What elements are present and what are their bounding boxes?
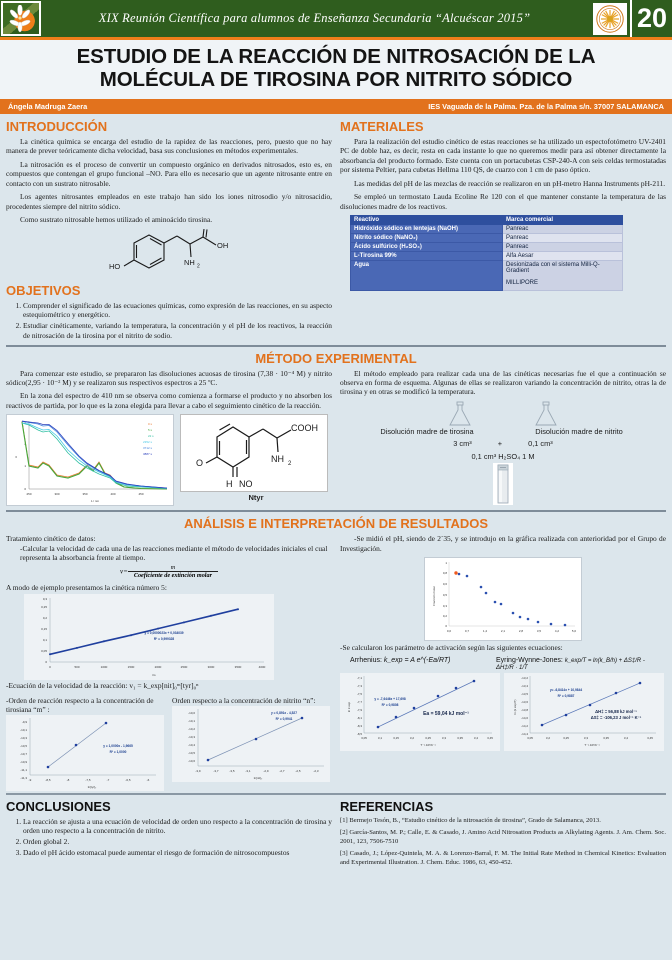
- svg-text:1: 1: [24, 464, 26, 468]
- svg-text:-10,2: -10,2: [188, 727, 195, 731]
- tratamiento-label: Tratamiento cinético de datos:: [6, 534, 332, 543]
- order-m-title: -Orden de reacción respecto a la concent…: [6, 697, 166, 715]
- svg-text:3,4: 3,4: [474, 736, 479, 740]
- conclusion-item: La reacción se ajusta a una ecuación de …: [23, 817, 332, 836]
- svg-text:250: 250: [26, 492, 31, 496]
- metodo-band: MÉTODO EXPERIMENTAL Para comenzar este e…: [6, 345, 666, 507]
- svg-text:-10,9: -10,9: [20, 760, 27, 764]
- cell-reactivo: Ácido sulfúrico (H₂SO₄): [351, 243, 503, 252]
- svg-text:3,3: 3,3: [584, 736, 589, 740]
- intro-paragraph-3: Los agentes nitrosantes empleados en est…: [6, 192, 332, 211]
- analisis-right: -Se midió el pH, siendo de 2´35, y se in…: [340, 534, 666, 790]
- arrhenius-svg: -7,1-7,3-7,5 -7,7-7,9-8,1 -8,3-8,5 3,053…: [340, 673, 500, 751]
- svg-text:-7,7: -7,7: [357, 700, 363, 704]
- svg-text:-14,2: -14,2: [521, 724, 528, 728]
- erlenmeyer-flask-icon: [533, 401, 559, 427]
- section-title-conclusiones: CONCLUSIONES: [6, 799, 332, 814]
- svg-text:0,5: 0,5: [443, 593, 448, 597]
- cell-marca: Panreac: [503, 225, 623, 234]
- arrhenius-r2: R² = 0,9808: [382, 703, 399, 707]
- svg-text:-10,4: -10,4: [188, 743, 195, 747]
- svg-text:0,25: 0,25: [41, 605, 47, 609]
- svg-text:350: 350: [82, 492, 87, 496]
- arrhenius-label: Arrhenius:: [350, 657, 382, 664]
- svg-text:O: O: [196, 458, 203, 468]
- svg-text:3,45: 3,45: [647, 736, 653, 740]
- section-title-introduccion: INTRODUCCIÓN: [6, 119, 332, 134]
- order-m-svg: -9,9-10,1-10,3 -10,5-10,7-10,9 -11,1-11,…: [6, 715, 164, 791]
- svg-text:-3,5: -3,5: [229, 769, 235, 773]
- svg-text:450: 450: [138, 492, 143, 496]
- section-title-analisis: ANÁLISIS E INTERPRETACIÓN DE RESULTADOS: [6, 516, 666, 531]
- volume-right: 0,1 cm³: [528, 439, 553, 448]
- cell-marca: Alfa Aesar: [503, 252, 623, 261]
- column-left-top: INTRODUCCIÓN La cinética química se enca…: [6, 117, 332, 342]
- svg-text:-2,5: -2,5: [295, 769, 301, 773]
- flask-right-label: Disolución madre de nitrito: [514, 427, 644, 436]
- eyring-label: Eyring-Wynne-Jones:: [496, 657, 563, 664]
- svg-text:Fracción molar: Fracción molar: [432, 586, 436, 606]
- table-row: Agua Desionizada con el sistema Milli-Q-…: [351, 261, 623, 291]
- tratamiento-bullet: -Calcular la velocidad de cada una de la…: [6, 544, 332, 563]
- plus-sign: +: [498, 439, 502, 448]
- svg-text:2: 2: [197, 263, 200, 269]
- objetivos-list: Comprender el significado de las ecuacio…: [6, 301, 332, 340]
- svg-text:-14,0: -14,0: [521, 716, 528, 720]
- table-row: Hidróxido sódico en lentejas (NaOH) Panr…: [351, 225, 623, 234]
- ph-highlight-point: [454, 572, 457, 575]
- cell-marca: Desionizada con el sistema Milli-Q-Gradi…: [503, 261, 623, 291]
- seal-glyph: [595, 4, 625, 34]
- conclusion-item: Dado el pH ácido estomacal puede aumenta…: [23, 848, 332, 857]
- svg-text:3,5: 3,5: [537, 629, 542, 633]
- materiales-paragraph-1: Para la realización del estudio cinético…: [340, 137, 666, 175]
- svg-text:0: 0: [24, 487, 26, 491]
- table-row: Nitrito sódico (NaNO₂) Panreac: [351, 234, 623, 243]
- svg-text:-13,2: -13,2: [521, 676, 528, 680]
- svg-text:λ / nm: λ / nm: [91, 499, 100, 503]
- svg-text:-9,9: -9,9: [22, 720, 28, 724]
- svg-text:0,3: 0,3: [43, 597, 48, 601]
- svg-text:0,05: 0,05: [41, 649, 47, 653]
- objetivo-item: Estudiar cinéticamente, variando la temp…: [23, 321, 332, 340]
- dh-result: ΔH‡ = 56,88 kJ mol⁻¹: [595, 709, 637, 714]
- arrhenius-chart: -7,1-7,3-7,5 -7,7-7,9-8,1 -8,3-8,5 3,053…: [340, 673, 500, 751]
- nitrosotirosina-structure: O COOH NH 2 H NO: [180, 414, 328, 492]
- svg-text:0: 0: [445, 624, 447, 628]
- svg-text:-7,5: -7,5: [85, 778, 91, 782]
- formula-denominator: Coeficiente de extinción molar: [128, 572, 218, 579]
- volume-left: 3 cm³: [453, 439, 471, 448]
- section-title-metodo: MÉTODO EXPERIMENTAL: [6, 351, 666, 366]
- svg-text:-2,7: -2,7: [279, 769, 285, 773]
- eyring-svg: -13,2-13,4-13,5 -13,6-13,8-14,0 -14,2-14…: [504, 673, 664, 751]
- cell-marca: Panreac: [503, 234, 623, 243]
- order-m-r2: R² = 1,0000: [110, 750, 127, 754]
- svg-text:0,2: 0,2: [443, 614, 448, 618]
- svg-text:2500: 2500: [181, 665, 188, 669]
- arrhenius-equation: k_exp = A e^(-Ea/RT): [384, 657, 451, 664]
- arrhenius-trend: y = -7,6446x + 17,698: [374, 697, 406, 701]
- section-title-objetivos: OBJETIVOS: [6, 283, 332, 298]
- ea-result: Ea = 59,04 kJ mol⁻¹: [423, 711, 469, 717]
- ds-result: ΔS‡ = -106,23 J mol⁻¹ K⁻¹: [591, 715, 642, 720]
- product-molecule-wrap: O COOH NH 2 H NO Ntyr: [180, 414, 332, 502]
- svg-text:O: O: [202, 229, 208, 230]
- materiales-paragraph-3: Se empleó un termostato Lauda Ecoline Re…: [340, 192, 666, 211]
- svg-text:3712 s: 3712 s: [143, 446, 153, 450]
- cell-reactivo: L-Tirosina 99%: [351, 252, 503, 261]
- eyring-r2: R² = 0,9887: [558, 694, 575, 698]
- svg-text:HO: HO: [109, 262, 120, 271]
- svg-text:3,05: 3,05: [361, 736, 367, 740]
- materiales-paragraph-2: Las medidas del pH de las mezclas de rea…: [340, 179, 666, 188]
- section-title-materiales: MATERIALES: [340, 119, 666, 134]
- ph-profile-svg: 10,80,6 0,50,30,20 0,00,71,4 2,12,83,5 4…: [425, 558, 581, 640]
- svg-text:T⁻¹·10³/K⁻¹: T⁻¹·10³/K⁻¹: [420, 743, 435, 747]
- intro-paragraph-1: La cinética química se encarga del estud…: [6, 137, 332, 156]
- reference-item: [3] Casado, J.; López-Quintela, M. A. & …: [340, 850, 666, 867]
- svg-text:NH: NH: [271, 454, 284, 464]
- kinetic-r2-label: R² = 0,999328: [154, 637, 175, 641]
- svg-text:300: 300: [54, 492, 59, 496]
- metodo-paragraph-1: Para comenzar este estudio, se prepararo…: [6, 369, 332, 388]
- table-row: L-Tirosina 99% Alfa Aesar: [351, 252, 623, 261]
- svg-text:-11,3: -11,3: [20, 776, 27, 780]
- svg-text:0,15: 0,15: [41, 627, 47, 631]
- svg-text:0,3: 0,3: [443, 604, 448, 608]
- metodo-left: Para comenzar este estudio, se prepararo…: [6, 369, 332, 507]
- erlenmeyer-flask-icon: [447, 401, 473, 427]
- order-m-trend: y = 1,0000x - 1,9665: [103, 744, 133, 748]
- svg-text:-10,1: -10,1: [20, 728, 27, 732]
- svg-text:1000: 1000: [101, 665, 108, 669]
- svg-text:-8,5: -8,5: [45, 778, 51, 782]
- metodo-right-paragraph: El método empleado para realizar cada un…: [340, 369, 666, 397]
- cuvette-photo: [340, 463, 666, 505]
- svg-text:4000: 4000: [259, 665, 266, 669]
- poster-number: 20: [630, 0, 672, 37]
- svg-text:3,1: 3,1: [378, 736, 383, 740]
- page-title-line2: MOLÉCULA DE TIROSINA POR NITRITO SÓDICO: [100, 68, 573, 91]
- svg-text:0,0: 0,0: [447, 629, 452, 633]
- svg-text:-11,1: -11,1: [20, 768, 27, 772]
- svg-text:ln[nit]₀: ln[nit]₀: [254, 776, 263, 780]
- svg-text:ln k exp: ln k exp: [347, 701, 351, 712]
- reference-item: [1] Bermejo Tesón, B., “Estudio cinético…: [340, 817, 666, 826]
- svg-text:t/s: t/s: [152, 673, 156, 677]
- svg-text:H: H: [226, 479, 233, 489]
- order-m-block: -Orden de reacción respecto a la concent…: [6, 697, 166, 791]
- conference-title: XIX Reunión Científica para alumnos de E…: [42, 11, 593, 26]
- svg-text:-2,3: -2,3: [313, 769, 319, 773]
- kinetic-5-chart: 00,050,1 0,150,20,250,3 05001000 1500200…: [24, 594, 332, 680]
- velocity-formula: v= m Coeficiente de extinción molar: [6, 565, 332, 579]
- svg-text:400: 400: [110, 492, 115, 496]
- svg-text:1500: 1500: [128, 665, 135, 669]
- author-name: Ángela Madruga Zaera: [8, 102, 87, 111]
- svg-text:-13,5: -13,5: [521, 692, 528, 696]
- svg-text:-3,7: -3,7: [213, 769, 219, 773]
- cuvette-icon: [493, 463, 513, 505]
- arrhenius-equation-block: Arrhenius: k_exp = A e^(-Ea/RT): [340, 657, 490, 671]
- svg-text:3,35: 3,35: [457, 736, 463, 740]
- product-caption: Ntyr: [180, 493, 332, 502]
- volumes-row: 3 cm³ + 0,1 cm³: [340, 439, 666, 448]
- svg-text:2000: 2000: [155, 665, 162, 669]
- referencias-block: REFERENCIAS [1] Bermejo Tesón, B., “Estu…: [340, 797, 666, 872]
- page-title-line1: ESTUDIO DE LA REACCIÓN DE NITROSACIÓN DE…: [77, 45, 596, 68]
- svg-text:2352 s: 2352 s: [143, 440, 153, 444]
- intro-paragraph-2: La nitrosación es el proceso de converti…: [6, 160, 332, 188]
- svg-text:3,05: 3,05: [527, 736, 533, 740]
- svg-text:-10,7: -10,7: [20, 752, 27, 756]
- svg-text:-10,3: -10,3: [20, 736, 27, 740]
- kinetic-trend-label: y = 0,0000023x + 0,034039: [144, 631, 183, 635]
- cell-reactivo: Agua: [351, 261, 503, 291]
- svg-text:-8: -8: [67, 778, 70, 782]
- cell-marca: Panreac: [503, 243, 623, 252]
- svg-text:3,25: 3,25: [563, 736, 569, 740]
- svg-text:OH: OH: [217, 241, 228, 250]
- svg-text:-7,1: -7,1: [357, 676, 363, 680]
- svg-text:-3,9: -3,9: [195, 769, 201, 773]
- svg-text:-6,5: -6,5: [125, 778, 131, 782]
- svg-text:0,7: 0,7: [465, 629, 470, 633]
- conclusion-item: Orden global 2.: [23, 837, 332, 846]
- svg-text:-13,4: -13,4: [521, 684, 528, 688]
- svg-text:-10,6: -10,6: [188, 759, 195, 763]
- acid-line: 0,1 cm³ H₂SO₄ 1 M: [340, 452, 666, 461]
- cell-reactivo: Hidróxido sódico en lentejas (NaOH): [351, 225, 503, 234]
- svg-text:3,2: 3,2: [546, 736, 551, 740]
- svg-text:4,2: 4,2: [555, 629, 560, 633]
- params-label: -Se calcularon los parámetro de activaci…: [340, 643, 666, 652]
- table-header-row: Reactivo Marca comercial: [351, 216, 623, 225]
- intro-paragraph-4: Como sustrato nitrosable hemos utilizado…: [6, 215, 332, 224]
- flower-glyph: [7, 5, 33, 33]
- author-bar: Ángela Madruga Zaera IES Vaguada de la P…: [0, 99, 672, 114]
- svg-text:ln (k exp/T): ln (k exp/T): [513, 699, 517, 714]
- analisis-band: ANÁLISIS E INTERPRETACIÓN DE RESULTADOS …: [6, 510, 666, 790]
- flask-left-label: Disolución madre de tirosina: [362, 427, 492, 436]
- svg-text:3,45: 3,45: [487, 736, 493, 740]
- svg-text:-7,3: -7,3: [357, 684, 363, 688]
- poster-title-block: ESTUDIO DE LA REACCIÓN DE NITROSACIÓN DE…: [0, 40, 672, 99]
- footer-divider: [6, 793, 666, 795]
- svg-text:NH: NH: [184, 258, 195, 267]
- conclusiones-block: CONCLUSIONES La reacción se ajusta a una…: [6, 797, 332, 872]
- svg-text:COOH: COOH: [291, 423, 318, 433]
- order-n-svg: -10,0-10,1-10,2 -10,3-10,4-10,5 -10,6 -3…: [172, 706, 330, 782]
- reagents-table: Reactivo Marca comercial Hidróxido sódic…: [350, 215, 623, 291]
- svg-text:3887 s: 3887 s: [143, 452, 153, 456]
- svg-text:NO: NO: [239, 479, 253, 489]
- uv-spectra-chart: 250300 350400 450 λ / nm 01 23 A: [6, 414, 174, 506]
- svg-text:500: 500: [74, 665, 79, 669]
- col-header-reactivo: Reactivo: [351, 216, 503, 225]
- order-n-trend: y = 0,891x - 4,527: [271, 711, 297, 715]
- col-header-marca: Marca comercial: [503, 216, 623, 225]
- section-title-referencias: REFERENCIAS: [340, 799, 666, 814]
- affiliation: IES Vaguada de la Palma. Pza. de la Palm…: [428, 102, 664, 111]
- svg-text:3,4: 3,4: [624, 736, 629, 740]
- svg-text:3,3: 3,3: [442, 736, 447, 740]
- svg-text:-6: -6: [147, 778, 150, 782]
- svg-text:-10,5: -10,5: [20, 744, 27, 748]
- svg-text:-7,9: -7,9: [357, 708, 363, 712]
- tirosina-skeletal-glyph: HO O OH NH 2: [94, 229, 244, 281]
- ph-profile-chart: 10,80,6 0,50,30,20 0,00,71,4 2,12,83,5 4…: [424, 557, 582, 641]
- svg-text:-10,3: -10,3: [188, 735, 195, 739]
- svg-text:22 s: 22 s: [148, 434, 154, 438]
- table-row: Ácido sulfúrico (H₂SO₄) Panreac: [351, 243, 623, 252]
- svg-text:5,0: 5,0: [572, 629, 577, 633]
- svg-text:3500: 3500: [235, 665, 242, 669]
- svg-text:3,15: 3,15: [393, 736, 399, 740]
- svg-text:0,2: 0,2: [43, 616, 48, 620]
- svg-text:-10,0: -10,0: [188, 711, 195, 715]
- svg-text:2,8: 2,8: [519, 629, 524, 633]
- analisis-left: Tratamiento cinético de datos: -Calcular…: [6, 534, 332, 790]
- svg-text:0,6: 0,6: [443, 582, 448, 586]
- svg-text:-8,3: -8,3: [357, 724, 363, 728]
- svg-text:0,1: 0,1: [43, 638, 48, 642]
- svg-text:3,2: 3,2: [410, 736, 415, 740]
- order-n-block: Orden respecto a la concentración de nit…: [172, 697, 332, 791]
- svg-text:-8,1: -8,1: [357, 716, 363, 720]
- top-banner: XIX Reunión Científica para alumnos de E…: [0, 0, 672, 37]
- conclusiones-list: La reacción se ajusta a una ecuación de …: [6, 817, 332, 858]
- svg-text:-3,1: -3,1: [245, 769, 251, 773]
- alcuescar-flower-logo: [0, 0, 42, 37]
- svg-text:-13,6: -13,6: [521, 700, 528, 704]
- tirosina-structure: HO O OH NH 2: [6, 229, 332, 281]
- svg-text:-7: -7: [107, 778, 110, 782]
- ntyr-skeletal-glyph: O COOH NH 2 H NO: [183, 417, 327, 491]
- university-seal-logo: [593, 3, 627, 35]
- svg-text:1: 1: [445, 561, 447, 565]
- order-n-title: Orden respecto a la concentración de nit…: [172, 697, 332, 706]
- svg-text:3000: 3000: [208, 665, 215, 669]
- svg-text:-9: -9: [29, 778, 32, 782]
- svg-text:ln[tyr]₀: ln[tyr]₀: [88, 785, 97, 789]
- eyring-equation-block: Eyring-Wynne-Jones: k_exp/T = ln(k_B/h) …: [496, 657, 664, 671]
- svg-text:-10,5: -10,5: [188, 751, 195, 755]
- svg-text:5 s: 5 s: [148, 428, 153, 432]
- ejemplo-label: A modo de ejemplo presentamos la cinétic…: [6, 583, 332, 592]
- column-right-top: MATERIALES Para la realización del estud…: [340, 117, 666, 342]
- svg-text:-2,9: -2,9: [263, 769, 269, 773]
- svg-text:2: 2: [288, 461, 292, 467]
- svg-text:0,8: 0,8: [443, 571, 448, 575]
- rate-equation: -Ecuación de la velocidad de la reacción…: [6, 681, 332, 690]
- metodo-paragraph-2: En la zona del espectro de 410 nm se obs…: [6, 391, 332, 410]
- svg-text:T⁻¹·10³/K⁻¹: T⁻¹·10³/K⁻¹: [584, 743, 599, 747]
- reference-item: [2] García-Santos, M. P.; Calle, E. & Ca…: [340, 829, 666, 846]
- formula-numerator: m: [128, 565, 218, 572]
- footer-columns: CONCLUSIONES La reacción se ajusta a una…: [0, 797, 672, 872]
- svg-text:1,4: 1,4: [483, 629, 488, 633]
- svg-text:-7,5: -7,5: [357, 692, 363, 696]
- svg-text:3,35: 3,35: [603, 736, 609, 740]
- flask-diagram-row: [340, 401, 666, 427]
- top-columns: INTRODUCCIÓN La cinética química se enca…: [0, 114, 672, 342]
- svg-text:0 s: 0 s: [148, 422, 153, 426]
- svg-text:-13,8: -13,8: [521, 708, 528, 712]
- svg-text:3,25: 3,25: [425, 736, 431, 740]
- kinetic-5-svg: 00,050,1 0,150,20,250,3 05001000 1500200…: [24, 594, 274, 680]
- eyring-trend: y= -6,8414x + 10,9844: [550, 688, 582, 692]
- objetivo-item: Comprender el significado de las ecuacio…: [23, 301, 332, 320]
- order-n-r2: R² = 0,9941: [276, 717, 293, 721]
- ph-paragraph: -Se midió el pH, siendo de 2´35, y se in…: [340, 534, 666, 553]
- svg-text:-10,1: -10,1: [188, 719, 195, 723]
- svg-text:2,1: 2,1: [501, 629, 506, 633]
- uv-spectra-svg: 250300 350400 450 λ / nm 01 23 A: [7, 415, 173, 505]
- formula-v: v=: [120, 567, 128, 575]
- metodo-right: El método empleado para realizar cada un…: [340, 369, 666, 507]
- svg-text:A: A: [14, 456, 18, 458]
- eyring-chart: -13,2-13,4-13,5 -13,6-13,8-14,0 -14,2-14…: [504, 673, 664, 751]
- cell-reactivo: Nitrito sódico (NaNO₂): [351, 234, 503, 243]
